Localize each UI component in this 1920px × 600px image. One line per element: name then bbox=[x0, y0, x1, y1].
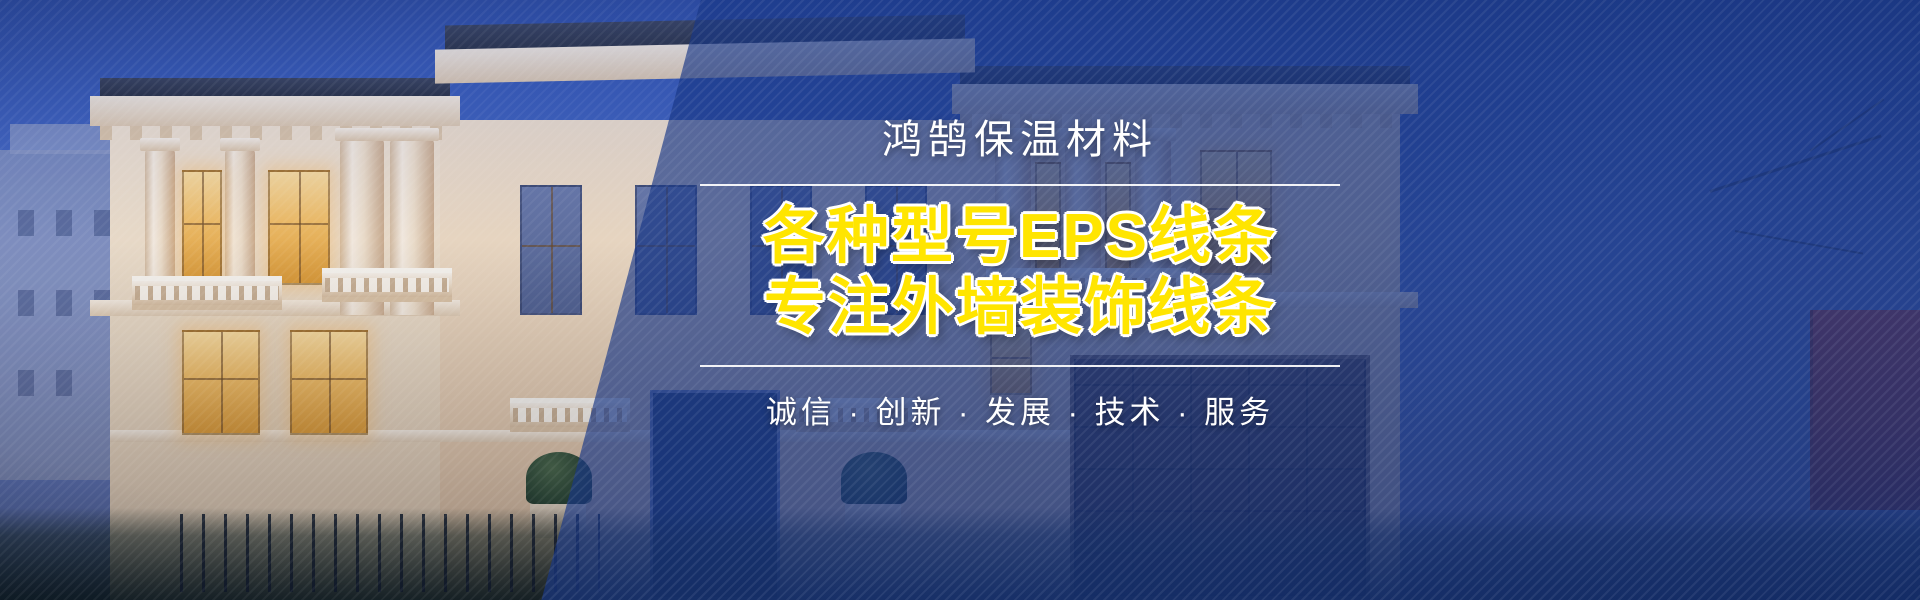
headline-line-2: 专注外墙装饰线条 bbox=[700, 273, 1340, 344]
slogan: 诚信 · 创新 · 发展 · 技术 · 服务 bbox=[700, 387, 1340, 432]
brand-name: 鸿鹄保温材料 bbox=[700, 118, 1340, 162]
shrub bbox=[841, 452, 907, 504]
divider-bottom bbox=[700, 365, 1340, 367]
balustrade bbox=[132, 276, 282, 310]
balustrade bbox=[510, 398, 630, 432]
red-container bbox=[1810, 310, 1920, 510]
window bbox=[635, 185, 697, 315]
cornice bbox=[90, 96, 460, 126]
roof-cap bbox=[960, 66, 1410, 84]
lit-window bbox=[268, 170, 330, 285]
banner-copy: 鸿鹄保温材料 各种型号EPS线条 专注外墙装饰线条 诚信 · 创新 · 发展 ·… bbox=[700, 118, 1340, 432]
roof-cap bbox=[100, 78, 450, 96]
window bbox=[520, 185, 582, 315]
balustrade bbox=[322, 268, 452, 302]
cornice bbox=[952, 84, 1418, 114]
lit-window bbox=[182, 330, 260, 435]
iron-fence bbox=[180, 514, 600, 592]
divider-top bbox=[700, 184, 1340, 186]
lit-window bbox=[182, 170, 222, 285]
shrub bbox=[526, 452, 592, 504]
headline-line-1: 各种型号EPS线条 bbox=[700, 202, 1340, 273]
promo-banner: 鸿鹄保温材料 各种型号EPS线条 专注外墙装饰线条 诚信 · 创新 · 发展 ·… bbox=[0, 0, 1920, 600]
lit-window bbox=[290, 330, 368, 435]
